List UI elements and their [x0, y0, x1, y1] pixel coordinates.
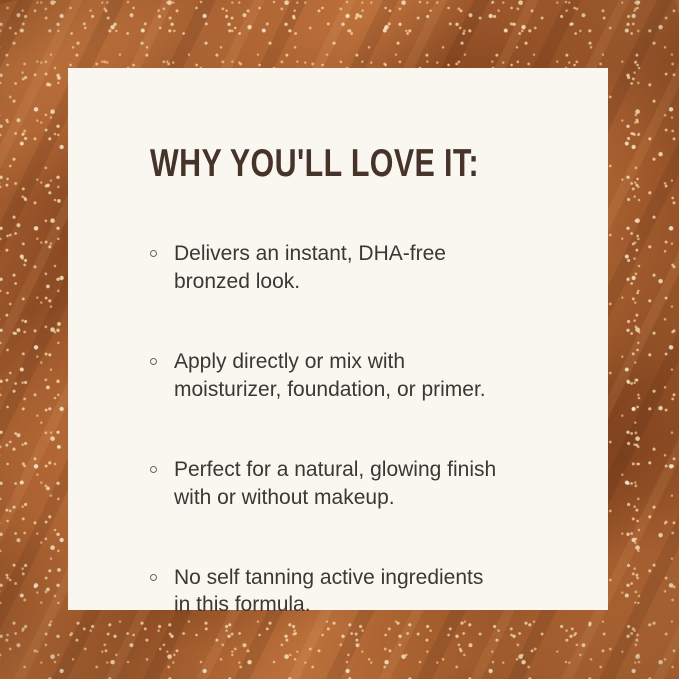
list-item-line: moisturizer, foundation, or primer.	[174, 376, 562, 404]
hollow-circle-bullet-icon	[150, 574, 157, 581]
page-title: WHY YOU'LL LOVE IT:	[150, 144, 471, 183]
list-item-line: with or without makeup.	[174, 484, 562, 512]
list-item-line: Apply directly or mix with	[174, 348, 562, 376]
list-item-line: No self tanning active ingredients	[174, 564, 562, 592]
hollow-circle-bullet-icon	[150, 466, 157, 473]
product-benefits-graphic: WHY YOU'LL LOVE IT: Delivers an instant,…	[0, 0, 679, 679]
hollow-circle-bullet-icon	[150, 358, 157, 365]
hollow-circle-bullet-icon	[150, 250, 157, 257]
list-item: Apply directly or mix with moisturizer, …	[150, 348, 562, 404]
list-item: No self tanning active ingredients in th…	[150, 564, 562, 620]
list-item: Perfect for a natural, glowing finish wi…	[150, 456, 562, 512]
list-item-line: Delivers an instant, DHA-free	[174, 240, 562, 268]
list-item-text: Delivers an instant, DHA-free bronzed lo…	[174, 240, 562, 296]
list-item-text: Perfect for a natural, glowing finish wi…	[174, 456, 562, 512]
benefits-card: WHY YOU'LL LOVE IT: Delivers an instant,…	[68, 68, 608, 610]
list-item-line: in this formula.	[174, 591, 562, 619]
list-item-line: bronzed look.	[174, 268, 562, 296]
list-item-text: No self tanning active ingredients in th…	[174, 564, 562, 620]
list-item-line: Perfect for a natural, glowing finish	[174, 456, 562, 484]
benefits-list: Delivers an instant, DHA-free bronzed lo…	[150, 240, 562, 619]
list-item-text: Apply directly or mix with moisturizer, …	[174, 348, 562, 404]
list-item: Delivers an instant, DHA-free bronzed lo…	[150, 240, 562, 296]
